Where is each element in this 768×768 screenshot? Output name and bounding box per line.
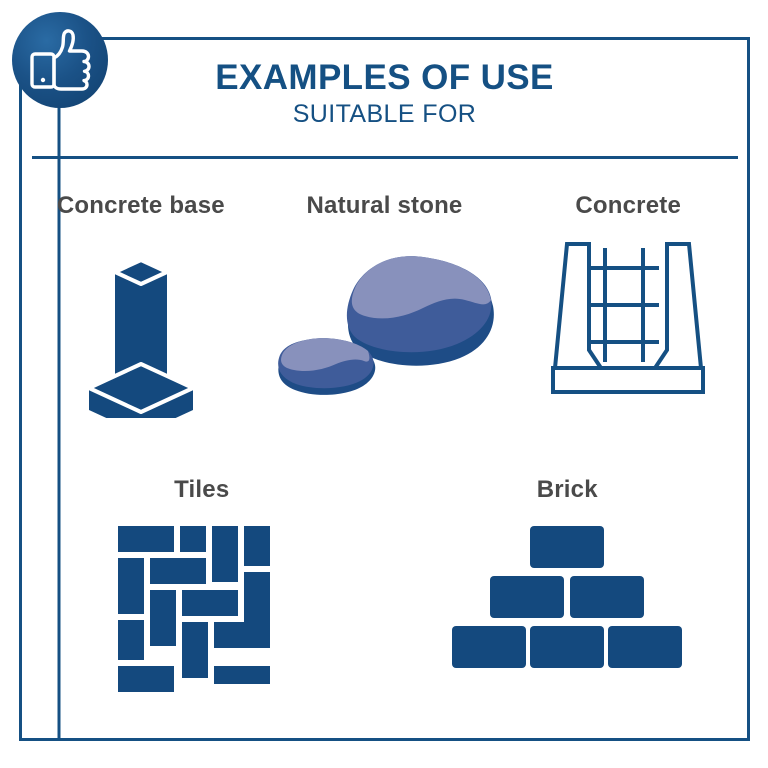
example-item-natural-stone: Natural stone xyxy=(263,192,507,418)
header-block: EXAMPLES OF USE SUITABLE FOR xyxy=(19,58,750,130)
example-label: Concrete xyxy=(575,192,681,220)
example-label: Brick xyxy=(537,476,598,504)
examples-row-1: Concrete base xyxy=(19,192,750,418)
examples-row-2: Tiles xyxy=(19,476,750,698)
example-illustration xyxy=(543,238,713,398)
example-illustration xyxy=(265,238,505,408)
concrete-base-icon xyxy=(71,238,211,418)
infographic-canvas: EXAMPLES OF USE SUITABLE FOR Concrete ba… xyxy=(0,0,768,768)
page-subtitle: SUITABLE FOR xyxy=(19,98,750,130)
concrete-rebar-icon xyxy=(543,238,713,398)
tiles-pattern-icon xyxy=(114,522,290,698)
example-label: Natural stone xyxy=(307,192,463,220)
example-label: Concrete base xyxy=(57,192,225,220)
header-divider xyxy=(32,156,738,159)
example-illustration xyxy=(71,238,211,418)
example-label: Tiles xyxy=(174,476,229,504)
example-item-concrete: Concrete xyxy=(506,192,750,418)
natural-stone-icon xyxy=(265,238,505,408)
example-item-brick: Brick xyxy=(385,476,751,698)
example-illustration xyxy=(452,522,682,672)
example-item-tiles: Tiles xyxy=(19,476,385,698)
page-title: EXAMPLES OF USE xyxy=(19,58,750,98)
brick-pattern-icon xyxy=(452,522,682,672)
example-item-concrete-base: Concrete base xyxy=(19,192,263,418)
example-illustration xyxy=(114,522,290,698)
